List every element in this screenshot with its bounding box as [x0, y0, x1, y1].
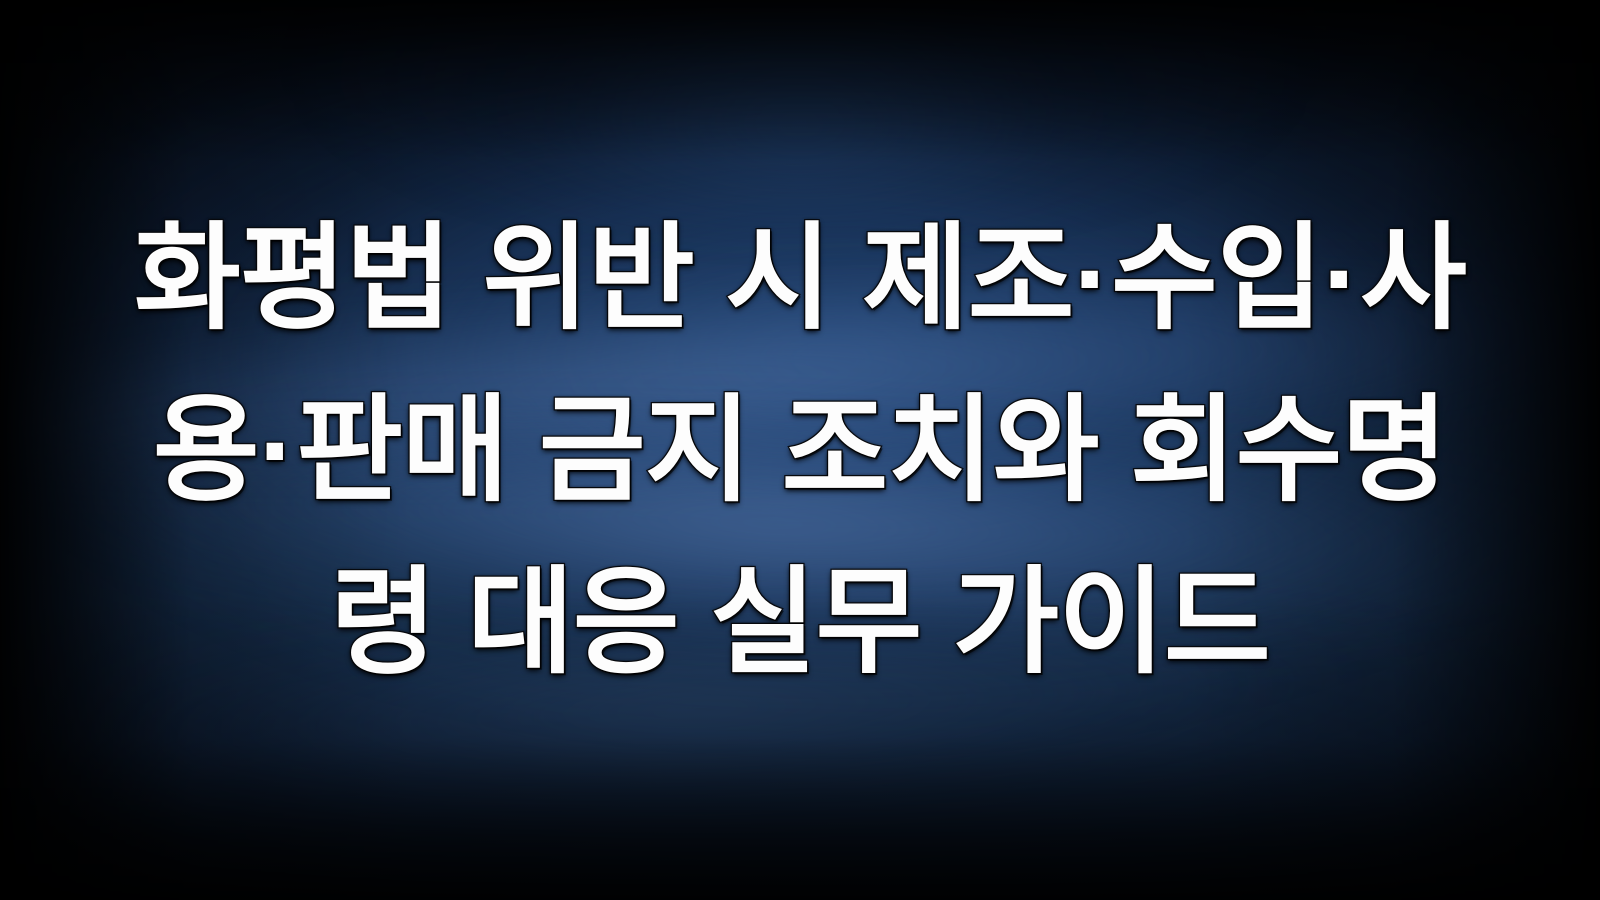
title-line-1: 화평법 위반 시 제조·수입·사 [134, 192, 1466, 364]
title-line-3: 령 대응 실무 가이드 [330, 536, 1269, 708]
title-slide: 화평법 위반 시 제조·수입·사 용·판매 금지 조치와 회수명 령 대응 실무… [0, 0, 1600, 900]
title-line-2: 용·판매 금지 조치와 회수명 [153, 364, 1447, 536]
title-text-block: 화평법 위반 시 제조·수입·사 용·판매 금지 조치와 회수명 령 대응 실무… [0, 0, 1600, 900]
